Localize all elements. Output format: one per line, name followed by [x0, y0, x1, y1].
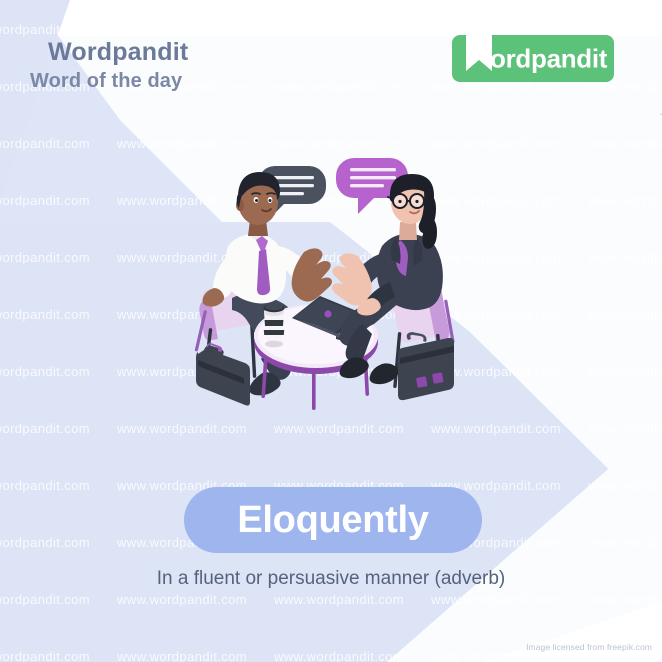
header: Wordpandit Word of the day ordpandit: [0, 0, 662, 110]
coffee-cup: [264, 304, 285, 348]
briefcase-left: [196, 343, 250, 406]
logo-text: ordpandit: [490, 43, 607, 74]
woman-left-hand: [332, 253, 372, 305]
word-of-the-day: Eloquently: [237, 499, 428, 542]
illustration-business-conversation: [186, 150, 486, 410]
bookmark-w-icon: [466, 33, 492, 71]
image-credit: Image licensed from freepik.com: [526, 642, 652, 652]
wordpandit-logo[interactable]: ordpandit: [452, 35, 614, 82]
word-of-the-day-card: www.wordpandit.comwww.wordpandit.comwww.…: [0, 0, 662, 662]
word-definition: In a fluent or persuasive manner (adverb…: [0, 568, 662, 590]
brand-subtitle: Word of the day: [30, 70, 182, 93]
brand-title: Wordpandit: [48, 38, 188, 67]
word-pill: Eloquently: [184, 487, 482, 553]
